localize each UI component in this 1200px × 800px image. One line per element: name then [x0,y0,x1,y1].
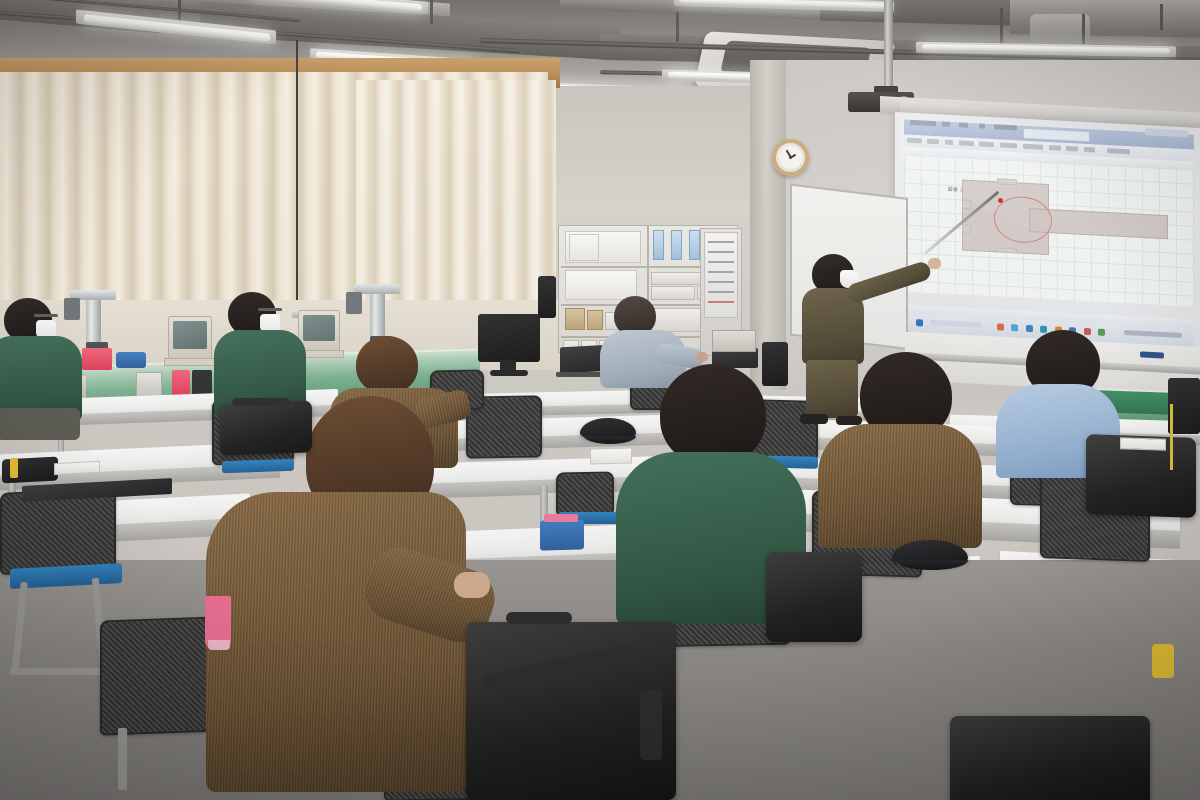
student6-torso [818,424,982,548]
hanging-cable [296,40,298,300]
cad-drawing-canvas[interactable]: 図番 2 [904,154,1194,307]
shoulder-bag [220,400,312,455]
instructor-hand [928,258,941,269]
backpack-handle [506,612,572,624]
tool-case-handle [544,514,578,522]
drawing-title-label: 図番 2 [948,186,964,194]
window-curtain [356,80,556,310]
equipment-box [712,330,756,352]
pointer-tip [998,198,1003,203]
notice-board [704,232,738,318]
person-student-1 [0,298,110,438]
bag-strap [232,398,290,406]
chair[interactable] [0,487,116,575]
glasses-icon [34,314,58,317]
tool-case [540,519,584,550]
cable [1170,404,1173,470]
person-student-4 [196,396,496,800]
student1-lap [0,408,80,440]
student4-hand [454,572,490,598]
wall-clock-icon [772,139,809,176]
chair[interactable] [556,471,614,516]
projection-screen: 図番 2 [895,112,1200,350]
backpack-strap [640,690,662,760]
backpack [950,716,1150,800]
classroom-photo: 図番 2 [0,0,1200,800]
pink-dustpan-brush [208,640,230,650]
paper-sheet [1120,437,1166,451]
monitor-base [490,370,528,376]
control-panel-monitor [168,316,212,362]
person-student-6 [818,352,986,542]
glasses-icon [258,308,282,311]
equipment-box [136,372,162,398]
projector-mount-pole [884,0,893,96]
student3-head [356,336,418,394]
staff-hand [696,352,708,362]
parts-tray [116,352,146,368]
pencil-case-zip [10,458,18,478]
tool-clip [1152,644,1174,678]
whiteboard-marker[interactable] [1140,351,1164,358]
paper-sheet [590,447,632,464]
student5-head [660,364,766,466]
speaker [538,276,556,318]
paper-sheet [54,461,100,475]
chair-leg [118,728,127,790]
backpack [766,552,862,642]
control-panel-base [164,358,216,366]
computer-monitor [478,314,540,362]
instructor-arm [845,260,933,305]
chair-foot [10,668,110,675]
student4-torso [206,492,466,792]
